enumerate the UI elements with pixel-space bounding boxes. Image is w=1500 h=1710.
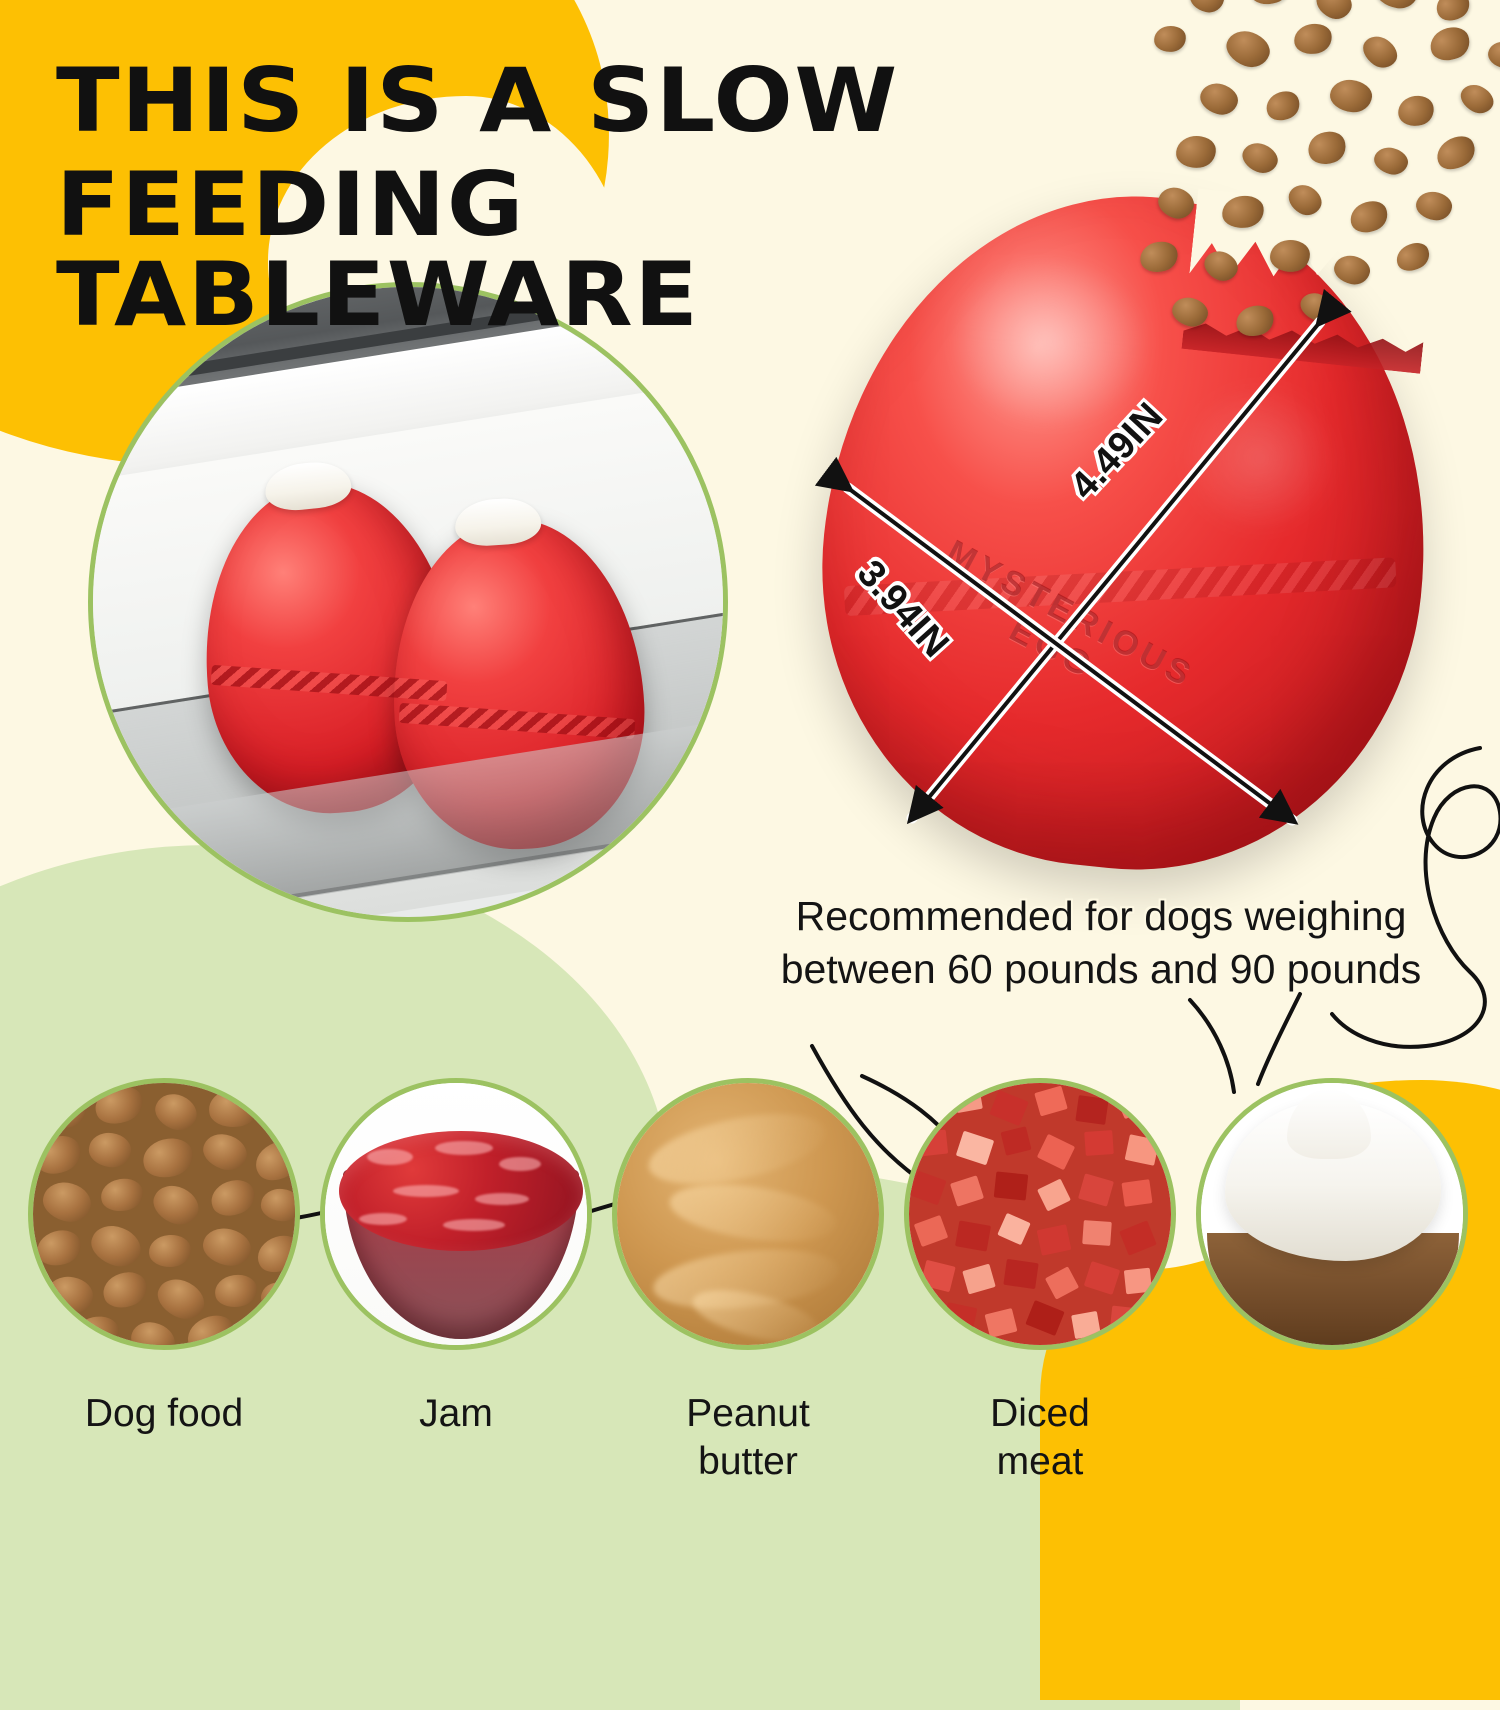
kibble-piece <box>1269 239 1311 274</box>
kibble-piece <box>1296 289 1337 326</box>
filling-label-jam: Jam <box>320 1390 592 1438</box>
peanut-butter-texture <box>617 1083 879 1345</box>
kibble-piece <box>1187 0 1226 15</box>
kibble-piece <box>1283 179 1326 220</box>
recommendation-line-2: between 60 pounds and 90 pounds <box>736 943 1466 996</box>
kibble-piece <box>1331 253 1372 288</box>
kibble-piece <box>1262 86 1305 126</box>
weight-recommendation: Recommended for dogs weighing between 60… <box>736 890 1466 997</box>
connector-yogurt-branch <box>1258 994 1300 1084</box>
filling-photo-jam <box>320 1078 592 1350</box>
recommendation-line-1: Recommended for dogs weighing <box>736 890 1466 943</box>
kibble-piece <box>1486 39 1500 70</box>
kibble-piece <box>1238 138 1282 177</box>
page-title: THIS IS A SLOW FEEDING TABLEWARE <box>56 56 1201 339</box>
kibble-piece <box>1197 79 1242 118</box>
kibble-piece <box>1395 92 1437 130</box>
kibble-piece <box>1414 190 1454 223</box>
kibble-piece <box>1431 0 1474 27</box>
kibble-piece <box>1304 126 1351 169</box>
kibble-piece <box>1311 0 1357 24</box>
filling-label-line-1: Peanut <box>612 1390 884 1438</box>
kibble-piece <box>1357 30 1403 73</box>
kibble-piece <box>1222 26 1275 73</box>
filling-label-peanut-butter: Peanut butter <box>612 1390 884 1485</box>
kibble-piece <box>1291 20 1334 57</box>
filling-label-dog-food: Dog food <box>28 1390 300 1438</box>
kibble-piece <box>1456 80 1498 119</box>
kibble-piece <box>1346 196 1393 239</box>
filling-photo-peanut-butter <box>612 1078 884 1350</box>
headline-line-2: FEEDING TABLEWARE <box>56 160 1201 340</box>
kibble-piece <box>1328 78 1373 114</box>
headline-line-1: THIS IS A SLOW <box>56 49 899 152</box>
filling-label-line-2: meat <box>904 1438 1176 1486</box>
kibble-piece <box>1152 24 1187 54</box>
filling-label-diced-meat: Diced meat <box>904 1390 1176 1485</box>
filling-label-line-2: butter <box>612 1438 884 1486</box>
kibble-piece <box>1392 238 1434 277</box>
dog-food-kibble-texture <box>33 1083 295 1345</box>
kibble-piece <box>1374 0 1420 11</box>
kibble-piece <box>1232 301 1277 341</box>
diced-meat-texture <box>909 1083 1171 1345</box>
filling-photo-yogurt <box>1196 1078 1468 1350</box>
filling-photo-dog-food <box>28 1078 300 1350</box>
egg-highlight-secondary <box>1175 377 1346 540</box>
kibble-piece <box>1220 193 1267 232</box>
jam-surface <box>339 1131 583 1251</box>
infographic-canvas: THIS IS A SLOW FEEDING TABLEWARE MYSTERI… <box>0 0 1500 1500</box>
fridge-storage-photo <box>88 282 728 922</box>
filling-label-line-1: Dog food <box>28 1390 300 1438</box>
kibble-piece <box>1200 246 1242 285</box>
filling-label-line-1: Jam <box>320 1390 592 1438</box>
kibble-piece <box>1246 0 1293 9</box>
filling-label-line-1: Diced <box>904 1390 1176 1438</box>
kibble-piece <box>1371 144 1410 177</box>
filling-photo-diced-meat <box>904 1078 1176 1350</box>
filling-labels-row: Dog food Jam Peanut butter Diced meat <box>0 1390 1500 1500</box>
filling-options-row <box>0 1078 1500 1378</box>
kibble-piece <box>1431 130 1481 177</box>
kibble-piece <box>1425 22 1474 67</box>
fridge-scene <box>93 287 723 917</box>
